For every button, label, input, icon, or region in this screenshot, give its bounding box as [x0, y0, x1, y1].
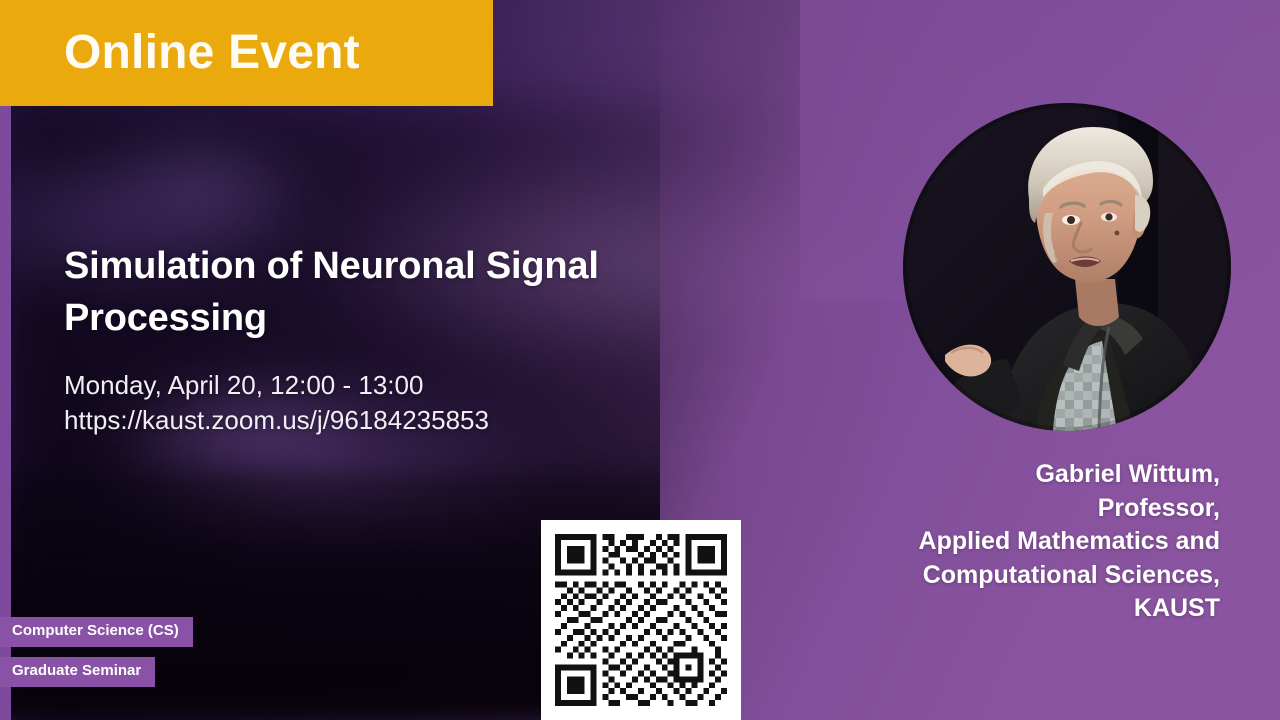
online-event-banner: Online Event	[0, 0, 493, 106]
event-meta: Monday, April 20, 12:00 - 13:00 https://…	[64, 368, 489, 437]
speaker-department-line-2: Computational Sciences,	[800, 559, 1220, 593]
tag-graduate-seminar[interactable]: Graduate Seminar	[0, 657, 155, 687]
speaker-department-line-1: Applied Mathematics and	[800, 525, 1220, 559]
speaker-institution: KAUST	[800, 592, 1220, 626]
event-datetime: Monday, April 20, 12:00 - 13:00	[64, 368, 489, 403]
page-title: Simulation of Neuronal Signal Processing	[64, 240, 764, 345]
speaker-role: Professor,	[800, 492, 1220, 526]
avatar	[903, 103, 1231, 431]
qr-code[interactable]	[541, 520, 741, 720]
tag-computer-science[interactable]: Computer Science (CS)	[0, 617, 193, 647]
tag-row: Computer Science (CS)	[0, 617, 193, 647]
online-event-label: Online Event	[64, 29, 360, 77]
category-tags: Computer Science (CS) Graduate Seminar	[0, 617, 193, 687]
speaker-portrait-illustration	[903, 103, 1231, 431]
qr-code-icon	[555, 534, 727, 706]
speaker-info: Gabriel Wittum, Professor, Applied Mathe…	[800, 458, 1220, 626]
event-poster: Online Event Simulation of Neuronal Sign…	[0, 0, 1280, 720]
tag-row: Graduate Seminar	[0, 657, 193, 687]
event-zoom-link[interactable]: https://kaust.zoom.us/j/96184235853	[64, 403, 489, 438]
speaker-name: Gabriel Wittum,	[800, 458, 1220, 492]
